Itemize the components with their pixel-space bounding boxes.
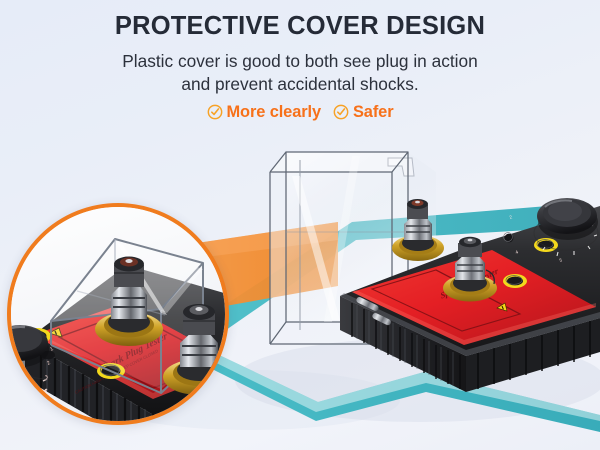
subtitle-line-1: Plastic cover is good to both see plug i… [0, 50, 600, 73]
callout-ring: Spark Plug Tester CAUTION HIGH VOLTAGE K… [7, 203, 229, 425]
badge-label: More clearly [227, 103, 321, 122]
magnifier-callout: Spark Plug Tester CAUTION HIGH VOLTAGE K… [7, 203, 229, 425]
promo-banner: Spark Plug Tester [0, 0, 600, 450]
page-title: PROTECTIVE COVER DESIGN [0, 13, 600, 41]
badge-more-clearly: More clearly [207, 103, 321, 122]
banana-port-bottom [534, 238, 558, 252]
check-circle-icon [333, 104, 349, 120]
banana-port-top [503, 274, 527, 288]
subtitle-line-2: and prevent accidental shocks. [0, 73, 600, 96]
subtitle: Plastic cover is good to both see plug i… [0, 50, 600, 96]
feature-badges: More clearly Safer [0, 103, 600, 122]
badge-label: Safer [353, 103, 394, 122]
svg-text:1: 1 [523, 200, 527, 206]
check-circle-icon [207, 104, 223, 120]
badge-safer: Safer [333, 103, 394, 122]
rotary-knob [537, 198, 598, 240]
header-block: PROTECTIVE COVER DESIGN Plastic cover is… [0, 0, 600, 122]
